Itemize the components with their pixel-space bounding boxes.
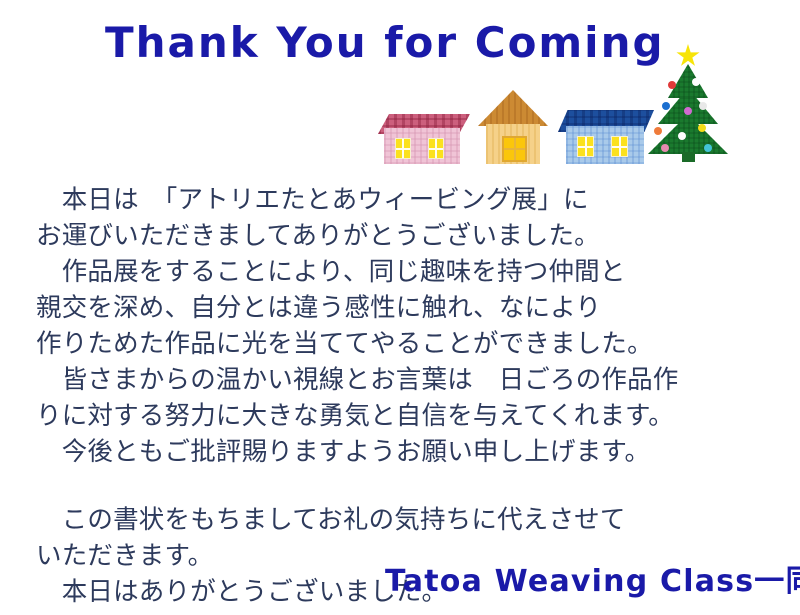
letter-line: りに対する努力に大きな勇気と自信を与えてくれます。: [36, 398, 776, 434]
christmas-tree-icon: [642, 32, 734, 167]
pink-house-window-left: [395, 138, 411, 159]
tree-ornament: [684, 107, 692, 115]
letter-blank-line: [36, 470, 776, 502]
holiday-illustration: [370, 30, 730, 170]
blue-house-icon: [558, 100, 654, 164]
letter-line: 親交を深め、自分とは違う感性に触れ、なにより: [36, 290, 776, 326]
tree-ornament: [692, 78, 700, 86]
letter-line: 作りためた作品に光を当ててやることができました。: [36, 326, 776, 362]
tan-house-icon: [478, 90, 548, 164]
tree-ornament: [698, 124, 706, 132]
tree-ornament: [662, 102, 670, 110]
letter-line: お運びいただきましてありがとうございました。: [36, 218, 776, 254]
tree-ornament: [654, 127, 662, 135]
tree-ornament: [699, 102, 707, 110]
tree-ornament: [678, 132, 686, 140]
signature: Tatoa Weaving Class一同: [385, 556, 800, 600]
pink-house-window-right: [428, 138, 444, 159]
pink-house-icon: [378, 102, 470, 164]
blue-house-window-left: [577, 136, 594, 157]
letter-line: 皆さまからの温かい視線とお言葉は 日ごろの作品作: [36, 362, 776, 398]
tan-house-window: [502, 136, 527, 162]
tan-house-roof: [478, 90, 548, 126]
letter-line: 本日は 「アトリエたとあウィービング展」に: [36, 182, 776, 218]
tree-ornament: [661, 144, 669, 152]
letter-line: 作品展をすることにより、同じ趣味を持つ仲間と: [36, 254, 776, 290]
letter-body: 本日は 「アトリエたとあウィービング展」にお運びいただきましてありがとうございま…: [36, 182, 776, 610]
letter-line: 今後ともご批評賜りますようお願い申し上げます。: [36, 434, 776, 470]
thank-you-card: Thank You for Coming: [0, 0, 800, 615]
tree-ornament: [668, 81, 676, 89]
tree-ornament: [704, 144, 712, 152]
tree-trunk: [682, 152, 695, 162]
blue-house-window-right: [611, 136, 628, 157]
letter-line: この書状をもちましてお礼の気持ちに代えさせて: [36, 502, 776, 538]
